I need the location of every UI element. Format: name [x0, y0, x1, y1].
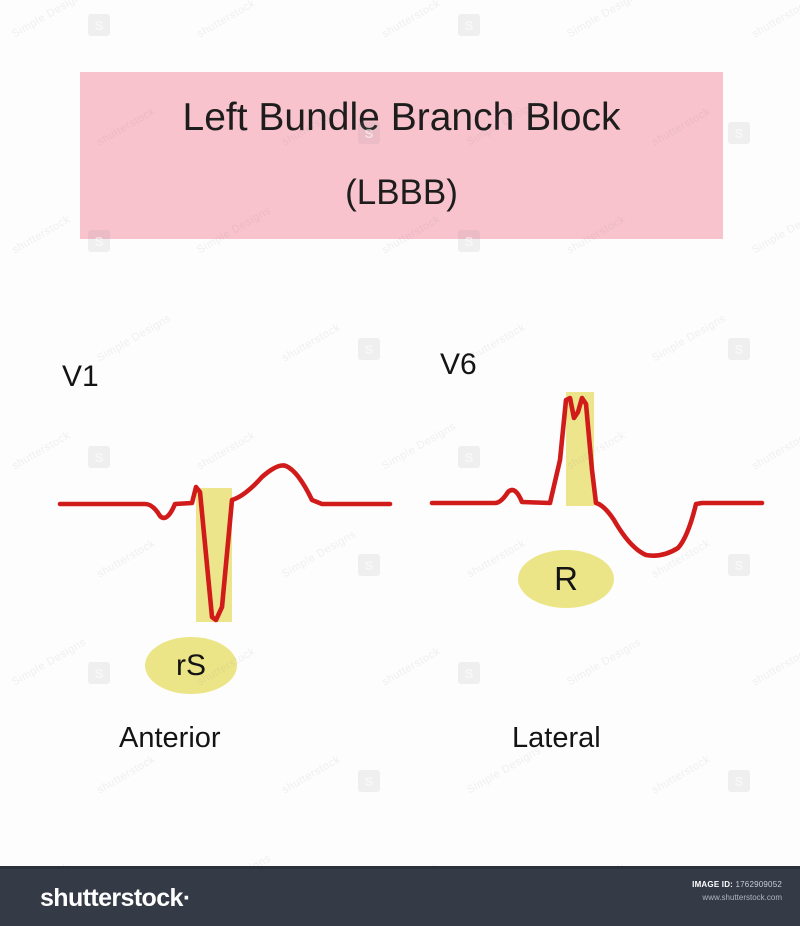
- lead-label-v6: V6: [440, 348, 477, 382]
- watermark-logo-icon: [88, 662, 110, 684]
- watermark-text: Simple Designs: [565, 0, 643, 40]
- image-id-line: IMAGE ID: 1762909052: [692, 880, 782, 889]
- watermark-logo-icon: [458, 14, 480, 36]
- footer-metadata: IMAGE ID: 1762909052 www.shutterstock.co…: [692, 880, 782, 902]
- diagram-canvas: Left Bundle Branch Block (LBBB) V1 rS An…: [0, 0, 800, 926]
- footer-divider: [0, 866, 800, 869]
- image-id-label: IMAGE ID:: [692, 880, 733, 889]
- watermark-text: Simple Designs: [750, 204, 800, 256]
- watermark-text: shutterstock: [195, 0, 258, 40]
- watermark-text: shutterstock: [10, 213, 73, 256]
- watermark-logo-icon: [458, 662, 480, 684]
- watermark-text: Simple Designs: [10, 0, 88, 40]
- watermark-logo-icon: [358, 770, 380, 792]
- region-caption-anterior: Anterior: [119, 722, 221, 755]
- footer-bar: shutterstock· IMAGE ID: 1762909052 www.s…: [0, 866, 800, 926]
- watermark-text: shutterstock: [750, 0, 800, 40]
- footer-url: www.shutterstock.com: [692, 893, 782, 902]
- watermark-text: shutterstock: [95, 753, 158, 796]
- lead-label-v1: V1: [62, 360, 99, 394]
- ecg-waveform-path-v6: [432, 398, 762, 556]
- watermark-logo-icon: [728, 770, 750, 792]
- watermark-text: shutterstock: [650, 753, 713, 796]
- watermark-text: shutterstock: [380, 0, 443, 40]
- morphology-badge-rs: rS: [145, 637, 237, 694]
- watermark-logo-icon: [728, 122, 750, 144]
- title-band: Left Bundle Branch Block (LBBB): [80, 72, 723, 239]
- shutterstock-logo: shutterstock·: [40, 884, 191, 913]
- region-caption-lateral: Lateral: [512, 722, 601, 755]
- page-title-abbreviation: (LBBB): [80, 173, 723, 213]
- page-title-primary: Left Bundle Branch Block: [80, 96, 723, 140]
- morphology-badge-r: R: [518, 550, 614, 608]
- watermark-text: shutterstock: [280, 753, 343, 796]
- watermark-logo-icon: [88, 14, 110, 36]
- image-id-value: 1762909052: [736, 880, 783, 889]
